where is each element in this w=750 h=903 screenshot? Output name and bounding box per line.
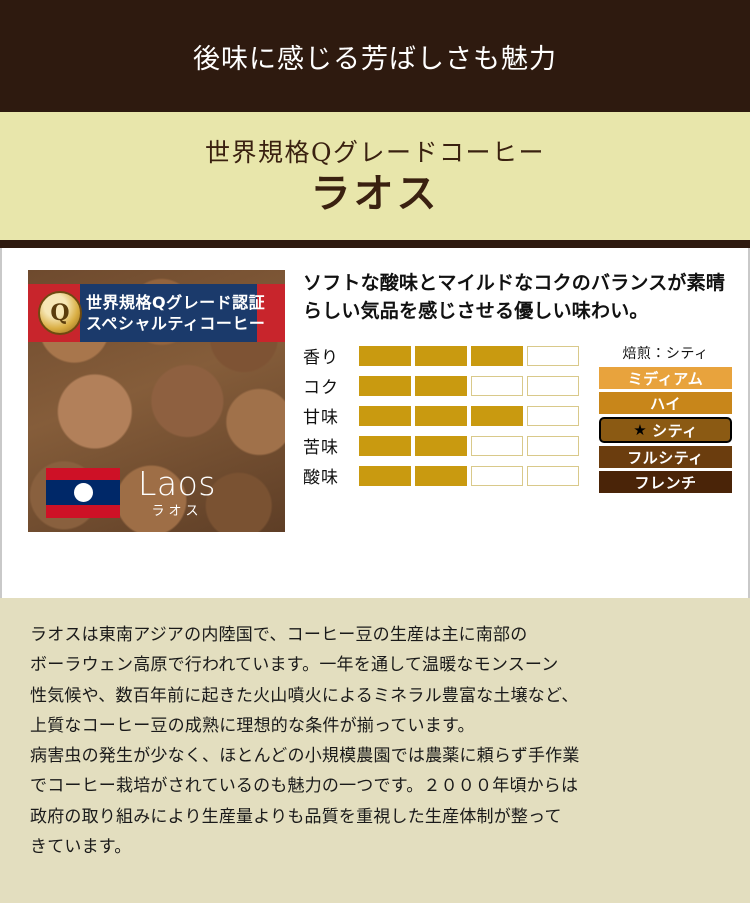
rating-cells: [359, 376, 583, 396]
tasting-note: ソフトな酸味とマイルドなコクのバランスが素晴らしい気品を感じさせる優しい味わい。: [303, 270, 732, 325]
country-names: Laos ラオス: [138, 467, 216, 518]
certification-banner-text: 世界規格Qグレード認証 スペシャルティコーヒー: [86, 292, 265, 334]
flag-circle: [74, 483, 93, 502]
roast-level-label: フルシティ: [627, 447, 704, 468]
rating-cell-filled: [359, 346, 411, 366]
title-block: 世界規格Qグレードコーヒー ラオス: [0, 112, 750, 240]
star-icon: ★: [633, 421, 647, 439]
laos-flag-icon: [46, 468, 120, 518]
rating-cell-filled: [415, 376, 467, 396]
rating-cell-filled: [359, 436, 411, 456]
rating-cell-empty: [471, 436, 523, 456]
product-photo: Q 世界規格Qグレード認証 スペシャルティコーヒー Laos ラオス: [28, 270, 285, 532]
description-block: ラオスは東南アジアの内陸国で、コーヒー豆の生産は主に南部の ボーラウェン高原で行…: [0, 598, 750, 903]
rating-cell-filled: [415, 346, 467, 366]
rating-cell-filled: [359, 376, 411, 396]
rating-row: 香り: [303, 343, 583, 368]
meter-area: 香りコク甘味苦味酸味 焙煎：シティ ミディアムハイ★シティフルシティフレンチ: [303, 343, 732, 496]
rating-cell-empty: [527, 346, 579, 366]
rating-cell-empty: [527, 466, 579, 486]
flag-stripe-top: [46, 468, 120, 481]
rating-cells: [359, 466, 583, 486]
rating-cell-filled: [471, 346, 523, 366]
flavor-rating-chart: 香りコク甘味苦味酸味: [303, 343, 583, 493]
rating-label: 香り: [303, 343, 359, 368]
page-title: ラオス: [311, 173, 440, 215]
certification-line-2: スペシャルティコーヒー: [86, 313, 265, 334]
rating-cell-empty: [471, 466, 523, 486]
roast-level[interactable]: フルシティ: [599, 446, 732, 468]
country-name-jp: ラオス: [138, 505, 216, 518]
section-divider: [0, 240, 750, 248]
rating-row: 苦味: [303, 433, 583, 458]
rating-cell-empty: [527, 436, 579, 456]
rating-cells: [359, 346, 583, 366]
page-subtitle: 世界規格Qグレードコーヒー: [205, 139, 545, 167]
description-text: ラオスは東南アジアの内陸国で、コーヒー豆の生産は主に南部の ボーラウェン高原で行…: [30, 620, 724, 862]
rating-cell-filled: [359, 466, 411, 486]
country-name-en: Laos: [138, 467, 216, 500]
flag-stripe-bottom: [46, 505, 120, 518]
rating-cell-empty: [471, 376, 523, 396]
rating-cell-filled: [415, 406, 467, 426]
rating-row: 酸味: [303, 463, 583, 488]
arabica-q-seal-icon: Q: [38, 291, 82, 335]
rating-cell-filled: [415, 466, 467, 486]
roast-level[interactable]: ミディアム: [599, 367, 732, 389]
roast-level-legend: 焙煎：シティ ミディアムハイ★シティフルシティフレンチ: [599, 343, 732, 496]
roast-level[interactable]: フレンチ: [599, 471, 732, 493]
rating-label: 甘味: [303, 403, 359, 428]
rating-label: 苦味: [303, 433, 359, 458]
rating-cell-empty: [527, 406, 579, 426]
rating-row: コク: [303, 373, 583, 398]
rating-cell-empty: [527, 376, 579, 396]
roast-level-selected[interactable]: ★シティ: [599, 417, 732, 443]
roast-level-label: ハイ: [650, 393, 681, 414]
roast-level-list: ミディアムハイ★シティフルシティフレンチ: [599, 367, 732, 493]
rating-cells: [359, 436, 583, 456]
rating-cell-filled: [415, 436, 467, 456]
top-banner: 後味に感じる芳ばしさも魅力: [0, 0, 750, 112]
roast-level-label: フレンチ: [634, 472, 696, 493]
roast-heading: 焙煎：シティ: [599, 343, 732, 363]
rating-label: コク: [303, 373, 359, 398]
rating-cell-filled: [471, 406, 523, 426]
certification-line-1: 世界規格Qグレード認証: [86, 292, 265, 313]
rating-cell-filled: [359, 406, 411, 426]
roast-level-label: ミディアム: [628, 368, 703, 389]
product-page: 後味に感じる芳ばしさも魅力 世界規格Qグレードコーヒー ラオス Q 世界規格Qグ…: [0, 0, 750, 903]
card-right-column: ソフトな酸味とマイルドなコクのバランスが素晴らしい気品を感じさせる優しい味わい。…: [285, 270, 732, 598]
info-card: Q 世界規格Qグレード認証 スペシャルティコーヒー Laos ラオス: [0, 248, 750, 598]
rating-label: 酸味: [303, 463, 359, 488]
roast-level[interactable]: ハイ: [599, 392, 732, 414]
rating-cells: [359, 406, 583, 426]
rating-row: 甘味: [303, 403, 583, 428]
banner-headline: 後味に感じる芳ばしさも魅力: [193, 37, 557, 76]
certification-banner: Q 世界規格Qグレード認証 スペシャルティコーヒー: [28, 284, 285, 342]
roast-level-label: シティ: [652, 420, 698, 441]
country-identity: Laos ラオス: [46, 467, 216, 518]
